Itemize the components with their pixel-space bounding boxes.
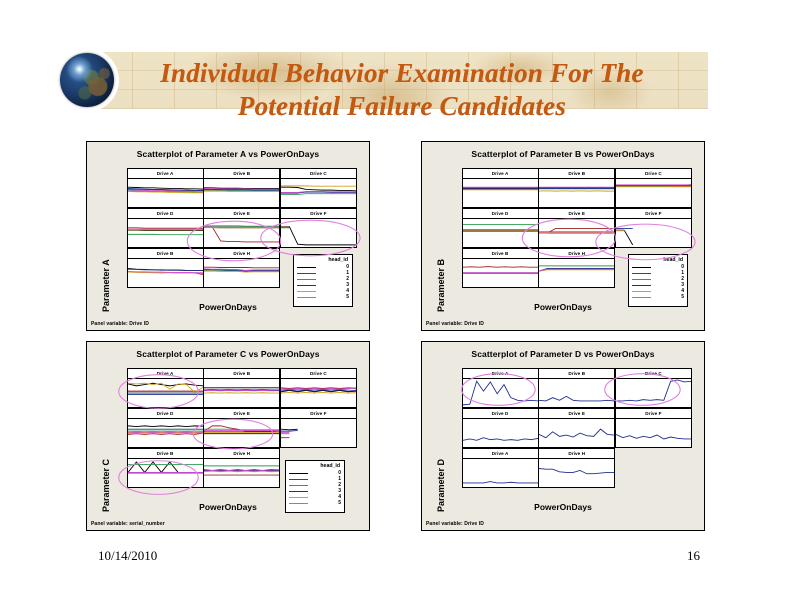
panel-plot-area	[463, 458, 538, 488]
panel-plot-area	[539, 418, 614, 448]
panel-plot-area	[128, 218, 203, 248]
legend-color-swatch	[632, 273, 651, 274]
panel-plot-area	[463, 378, 538, 408]
panel-drive-d[interactable]: Drive D	[462, 408, 539, 449]
panel-drive-e[interactable]: Drive E	[203, 208, 280, 249]
panel-plot-area	[463, 258, 538, 288]
footer-date: 10/14/2010	[98, 548, 157, 564]
legend-item-label: 5	[322, 294, 349, 300]
panel-drive-d[interactable]: Drive D	[127, 408, 204, 449]
legend-color-swatch	[632, 279, 651, 280]
legend-title: head_id	[297, 257, 349, 263]
legend-color-swatch	[632, 285, 651, 286]
panel-drive-d[interactable]: Drive D	[127, 208, 204, 249]
legend-color-swatch	[297, 273, 316, 274]
panel-drive-d[interactable]: Drive D	[462, 208, 539, 249]
panel-plot-area	[463, 418, 538, 448]
panel-plot-area	[463, 178, 538, 208]
panel-drive-f[interactable]: Drive F	[280, 408, 357, 449]
panel-drive-a[interactable]: Drive A	[127, 168, 204, 209]
panel-drive-a[interactable]: Drive A	[462, 168, 539, 209]
panel-drive-h[interactable]: Drive H	[203, 448, 280, 489]
legend-color-swatch	[632, 297, 651, 298]
chart-legend[interactable]: head_id012345	[285, 460, 345, 513]
legend-color-swatch	[297, 267, 316, 268]
panel-variable-note: Panel variable: Drive ID	[91, 321, 149, 327]
panel-plot-area	[539, 458, 614, 488]
chart-title: Scatterplot of Parameter A vs PowerOnDay…	[87, 149, 369, 159]
legend-color-swatch	[289, 491, 308, 492]
legend-color-swatch	[297, 279, 316, 280]
panel-drive-f[interactable]: Drive F	[615, 208, 692, 249]
legend-color-swatch	[289, 497, 308, 498]
panel-variable-note: Panel variable: serial_number	[91, 521, 165, 527]
panel-drive-b[interactable]: Drive B	[203, 368, 280, 409]
legend-item-label: 5	[657, 294, 684, 300]
chart-parameter-c[interactable]: Scatterplot of Parameter C vs PowerOnDay…	[86, 341, 370, 531]
legend-color-swatch	[289, 479, 308, 480]
chart-title: Scatterplot of Parameter C vs PowerOnDay…	[87, 349, 369, 359]
panel-drive-c[interactable]: Drive C	[280, 368, 357, 409]
panel-plot-area	[463, 218, 538, 248]
panel-plot-area	[128, 178, 203, 208]
panel-drive-c[interactable]: Drive C	[615, 168, 692, 209]
panel-plot-area	[539, 218, 614, 248]
panel-drive-a[interactable]: Drive A	[127, 368, 204, 409]
chart-x-axis-label: PowerOnDays	[422, 502, 704, 512]
chart-legend[interactable]: head_id012345	[293, 254, 353, 307]
panel-plot-area	[281, 218, 356, 248]
chart-parameter-b[interactable]: Scatterplot of Parameter B vs PowerOnDay…	[421, 141, 705, 331]
footer-page-number: 16	[660, 548, 700, 564]
legend-color-swatch	[289, 485, 308, 486]
legend-color-swatch	[632, 267, 651, 268]
panel-plot-area	[204, 418, 279, 448]
legend-title: head_id	[632, 257, 684, 263]
panel-plot-area	[204, 458, 279, 488]
panel-drive-a[interactable]: Drive A	[462, 448, 539, 489]
legend-color-swatch	[289, 473, 308, 474]
panel-drive-h[interactable]: Drive H	[538, 248, 615, 289]
panel-drive-h[interactable]: Drive H	[538, 448, 615, 489]
panel-plot-area	[204, 218, 279, 248]
panel-plot-area	[539, 258, 614, 288]
panel-drive-b[interactable]: Drive B	[127, 248, 204, 289]
panel-plot-area	[281, 178, 356, 208]
legend-title: head_id	[289, 463, 341, 469]
panel-plot-area	[204, 258, 279, 288]
panel-plot-area	[128, 378, 203, 408]
panel-plot-area	[128, 258, 203, 288]
panel-variable-note: Panel variable: Drive ID	[426, 521, 484, 527]
legend-color-swatch	[297, 291, 316, 292]
page-title: Individual Behavior Examination For The …	[96, 57, 708, 123]
legend-color-swatch	[289, 503, 308, 504]
panel-drive-e[interactable]: Drive E	[538, 408, 615, 449]
legend-item[interactable]: 5	[632, 294, 684, 300]
chart-parameter-d[interactable]: Scatterplot of Parameter D vs PowerOnDay…	[421, 341, 705, 531]
panel-drive-h[interactable]: Drive H	[203, 248, 280, 289]
legend-color-swatch	[297, 285, 316, 286]
panel-drive-b[interactable]: Drive B	[538, 368, 615, 409]
panel-plot-area	[539, 378, 614, 408]
panel-plot-area	[616, 178, 691, 208]
panel-empty-slot	[615, 448, 692, 489]
panel-drive-a[interactable]: Drive A	[462, 368, 539, 409]
chart-legend[interactable]: head_id012345	[628, 254, 688, 307]
panel-drive-c[interactable]: Drive C	[280, 168, 357, 209]
legend-item[interactable]: 5	[289, 500, 341, 506]
panel-grid: Drive ADrive BDrive CDrive DDrive EDrive…	[462, 368, 692, 488]
panel-drive-f[interactable]: Drive F	[615, 408, 692, 449]
panel-plot-area	[204, 378, 279, 408]
page-title-line2: Potential Failure Candidates	[96, 90, 708, 123]
chart-parameter-a[interactable]: Scatterplot of Parameter A vs PowerOnDay…	[86, 141, 370, 331]
slide-canvas: Individual Behavior Examination For The …	[0, 0, 792, 612]
panel-drive-e[interactable]: Drive E	[538, 208, 615, 249]
panel-drive-f[interactable]: Drive F	[280, 208, 357, 249]
panel-plot-area	[128, 458, 203, 488]
panel-plot-area	[281, 378, 356, 408]
panel-drive-b[interactable]: Drive B	[203, 168, 280, 209]
panel-plot-area	[616, 378, 691, 408]
chart-title: Scatterplot of Parameter D vs PowerOnDay…	[422, 349, 704, 359]
panel-plot-area	[281, 418, 356, 448]
panel-drive-b[interactable]: Drive B	[127, 448, 204, 489]
panel-plot-area	[204, 178, 279, 208]
panel-drive-e[interactable]: Drive E	[203, 408, 280, 449]
panel-drive-b[interactable]: Drive B	[462, 248, 539, 289]
legend-item[interactable]: 5	[297, 294, 349, 300]
panel-drive-c[interactable]: Drive C	[615, 368, 692, 409]
panel-plot-area	[616, 418, 691, 448]
globe-icon	[60, 53, 114, 107]
panel-variable-note: Panel variable: Drive ID	[426, 321, 484, 327]
panel-plot-area	[128, 418, 203, 448]
panel-plot-area	[616, 218, 691, 248]
panel-drive-b[interactable]: Drive B	[538, 168, 615, 209]
legend-color-swatch	[297, 297, 316, 298]
panel-plot-area	[539, 178, 614, 208]
chart-title: Scatterplot of Parameter B vs PowerOnDay…	[422, 149, 704, 159]
legend-item-label: 5	[314, 500, 341, 506]
page-title-line1: Individual Behavior Examination For The	[96, 57, 708, 90]
legend-color-swatch	[632, 291, 651, 292]
